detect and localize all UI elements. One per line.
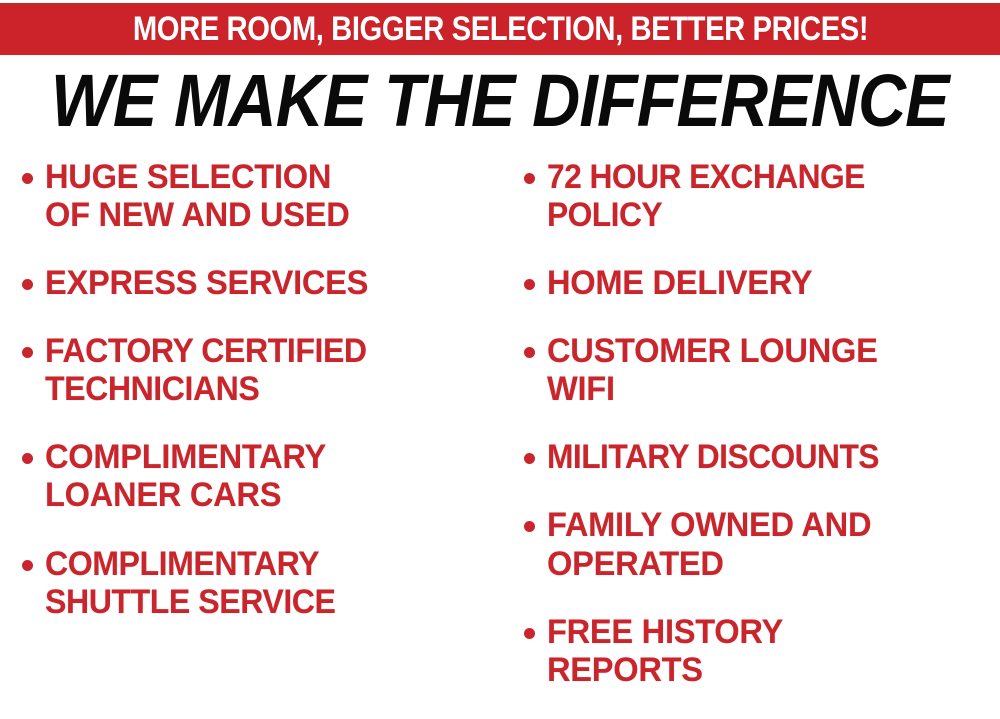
feature-label: FREE HISTORY REPORTS: [547, 613, 783, 689]
feature-label: MILITARY DISCOUNTS: [547, 438, 879, 476]
list-item: EXPRESS SERVICES: [22, 264, 496, 302]
list-item: HOME DELIVERY: [524, 264, 1000, 302]
feature-label: FACTORY CERTIFIED TECHNICIANS: [45, 332, 367, 408]
bullet-dot-icon: [22, 453, 33, 464]
list-item: 72 HOUR EXCHANGE POLICY: [524, 158, 1000, 234]
bullet-dot-icon: [22, 560, 33, 571]
bullet-dot-icon: [524, 521, 535, 532]
list-item: CUSTOMER LOUNGE WIFI: [524, 332, 1000, 408]
feature-label: HUGE SELECTION OF NEW AND USED: [45, 158, 350, 234]
feature-label: COMPLIMENTARY LOANER CARS: [45, 438, 326, 514]
promo-banner: MORE ROOM, BIGGER SELECTION, BETTER PRIC…: [0, 3, 1000, 55]
features-section: HUGE SELECTION OF NEW AND USED EXPRESS S…: [0, 158, 1000, 694]
bullet-dot-icon: [22, 279, 33, 290]
feature-label: COMPLIMENTARY SHUTTLE SERVICE: [45, 545, 335, 621]
bullet-dot-icon: [524, 279, 535, 290]
list-item: MILITARY DISCOUNTS: [524, 438, 1000, 476]
feature-column-right: 72 HOUR EXCHANGE POLICY HOME DELIVERY CU…: [500, 158, 1000, 719]
list-item: COMPLIMENTARY LOANER CARS: [22, 438, 496, 514]
list-item: FACTORY CERTIFIED TECHNICIANS: [22, 332, 496, 408]
feature-column-left: HUGE SELECTION OF NEW AND USED EXPRESS S…: [0, 158, 500, 651]
bullet-dot-icon: [524, 453, 535, 464]
bullet-dot-icon: [524, 628, 535, 639]
list-item: FAMILY OWNED AND OPERATED: [524, 506, 1000, 582]
feature-label: FAMILY OWNED AND OPERATED: [547, 506, 871, 582]
bullet-dot-icon: [524, 347, 535, 358]
list-item: COMPLIMENTARY SHUTTLE SERVICE: [22, 545, 496, 621]
page-title: WE MAKE THE DIFFERENCE: [51, 64, 949, 138]
list-item: HUGE SELECTION OF NEW AND USED: [22, 158, 496, 234]
bullet-dot-icon: [22, 173, 33, 184]
headline-container: WE MAKE THE DIFFERENCE: [0, 60, 1000, 142]
list-item: FREE HISTORY REPORTS: [524, 613, 1000, 689]
feature-label: CUSTOMER LOUNGE WIFI: [547, 332, 878, 408]
feature-label: HOME DELIVERY: [547, 264, 812, 302]
feature-label: 72 HOUR EXCHANGE POLICY: [547, 158, 865, 234]
feature-label: EXPRESS SERVICES: [45, 264, 368, 302]
bullet-dot-icon: [524, 173, 535, 184]
promo-banner-text: MORE ROOM, BIGGER SELECTION, BETTER PRIC…: [132, 12, 867, 46]
bullet-dot-icon: [22, 347, 33, 358]
